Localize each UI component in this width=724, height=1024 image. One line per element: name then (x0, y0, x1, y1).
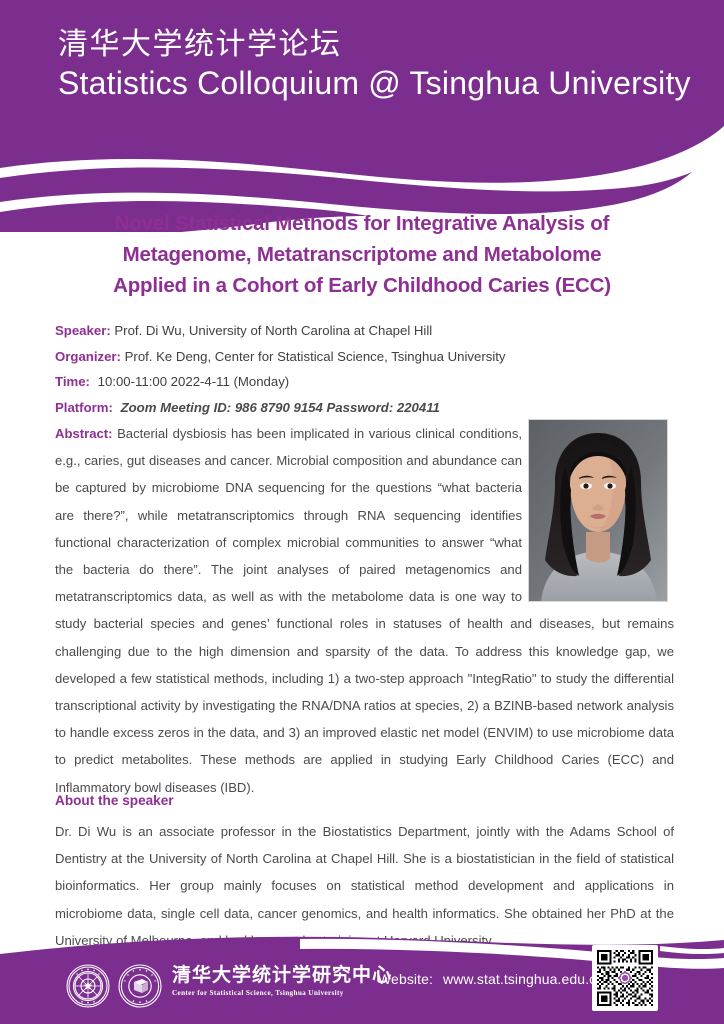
website-label: Website: (378, 971, 433, 987)
meta-row-speaker: Speaker: Prof. Di Wu, University of Nort… (55, 318, 675, 344)
meta-row-organizer: Organizer: Prof. Ke Deng, Center for Sta… (55, 344, 675, 370)
portrait-illustration (529, 420, 667, 601)
seal-book-icon (118, 964, 162, 1008)
wechat-qr-code[interactable] (592, 945, 658, 1011)
organizer-label: Organizer: (55, 349, 121, 364)
talk-title-line-2: Metagenome, Metatranscriptome and Metabo… (40, 239, 684, 270)
talk-title: Novel Statistical Methods for Integrativ… (40, 208, 684, 301)
center-name-block: 清华大学统计学研究中心 Center for Statistical Scien… (172, 966, 392, 997)
tsinghua-university-seal (66, 964, 110, 1008)
meta-row-platform: Platform: Zoom Meeting ID: 986 8790 9154… (55, 395, 675, 421)
platform-value: Zoom Meeting ID: 986 8790 9154 Password:… (117, 400, 440, 415)
talk-metadata: Speaker: Prof. Di Wu, University of Nort… (55, 318, 675, 420)
abstract-label: Abstract: (55, 426, 112, 441)
speaker-photo (528, 419, 668, 602)
seminar-poster: 清华大学统计学论坛 Statistics Colloquium @ Tsingh… (0, 0, 724, 1024)
time-value: 10:00-11:00 2022-4-11 (Monday) (94, 374, 290, 389)
center-for-statistical-science-seal (118, 964, 162, 1008)
meta-row-time: Time: 10:00-11:00 2022-4-11 (Monday) (55, 369, 675, 395)
center-name-cn: 清华大学统计学研究中心 (172, 966, 392, 986)
time-label: Time: (55, 374, 90, 389)
talk-title-line-3: Applied in a Cohort of Early Childhood C… (40, 270, 684, 301)
center-name-en: Center for Statistical Science, Tsinghua… (172, 989, 392, 997)
website-line: Website: www.stat.tsinghua.edu.cn (378, 971, 604, 987)
seal-ring-icon (66, 964, 110, 1008)
website-url[interactable]: www.stat.tsinghua.edu.cn (437, 971, 604, 987)
header-banner: 清华大学统计学论坛 Statistics Colloquium @ Tsingh… (0, 0, 724, 232)
talk-title-line-1: Novel Statistical Methods for Integrativ… (40, 208, 684, 239)
header-wave-graphic (0, 0, 724, 232)
platform-label: Platform: (55, 400, 113, 415)
speaker-label: Speaker: (55, 323, 111, 338)
qr-code-icon (595, 948, 655, 1008)
about-speaker-heading: About the speaker (55, 793, 174, 808)
speaker-value: Prof. Di Wu, University of North Carolin… (114, 323, 432, 338)
organizer-value: Prof. Ke Deng, Center for Statistical Sc… (125, 349, 506, 364)
